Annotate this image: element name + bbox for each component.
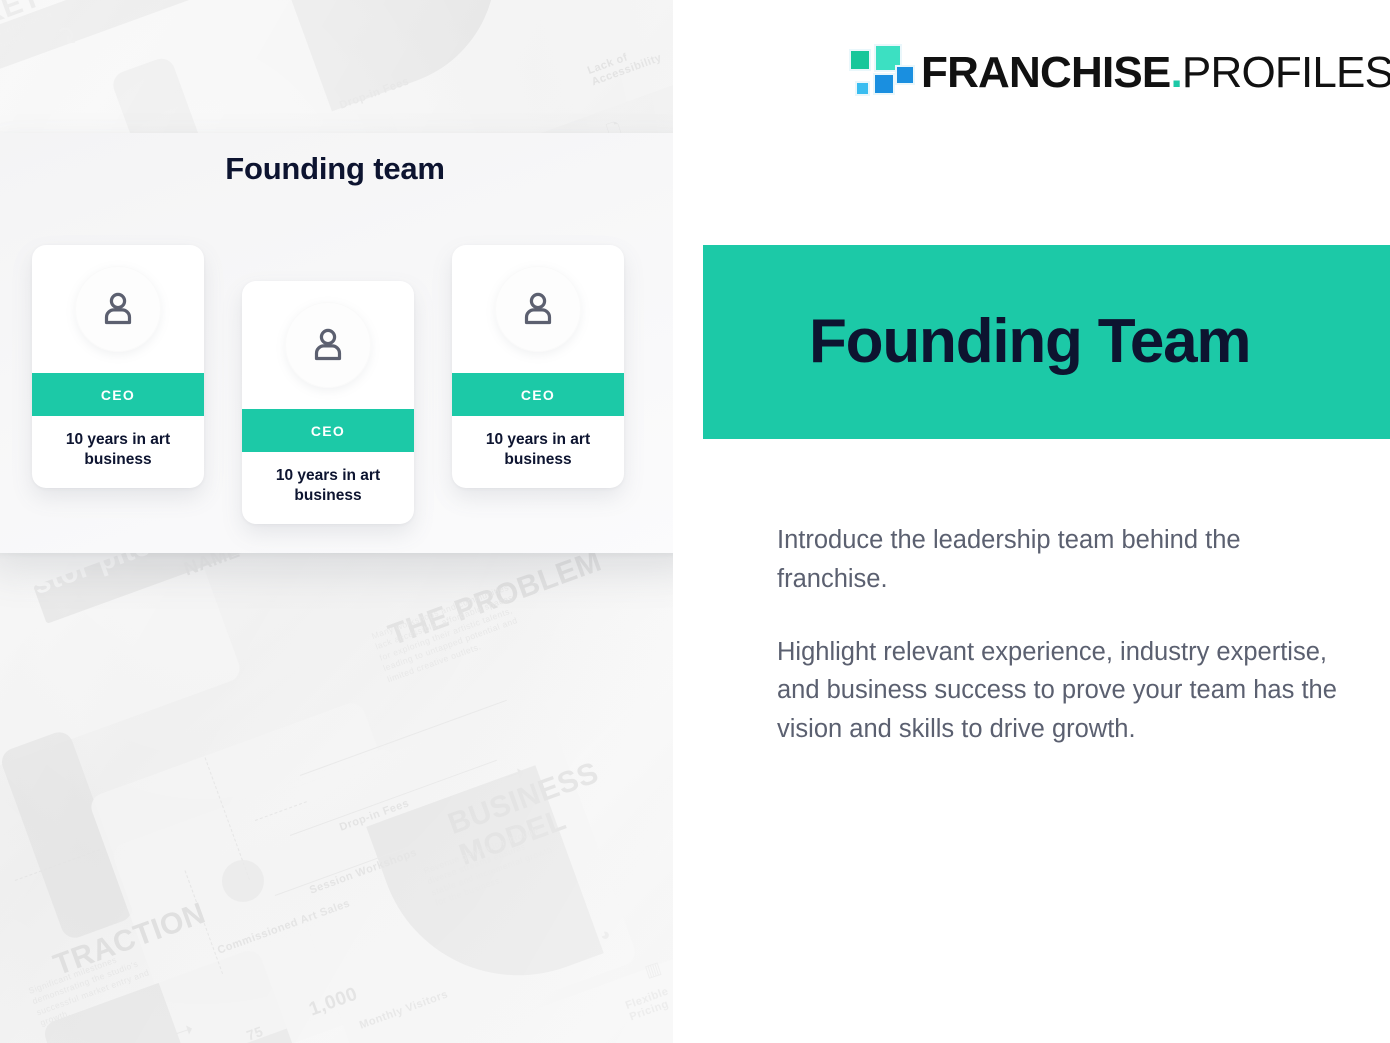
- avatar: [495, 266, 581, 352]
- logo-wordmark: FRANCHISE.PROFILES: [921, 51, 1390, 95]
- person-icon: [518, 289, 558, 329]
- avatar-zone: [32, 245, 204, 373]
- slide-preview-page: ↷ ➝ ➝ ➝ ⧖ 🗋 ▥ ◕ KET estor pitch deck NAM…: [0, 0, 1390, 1043]
- logo-square-blue-right: [895, 65, 915, 85]
- person-icon: [308, 325, 348, 365]
- team-member-card[interactable]: CEO 10 years in art business: [452, 245, 624, 488]
- brand-logo[interactable]: FRANCHISE.PROFILES: [849, 44, 1390, 102]
- title-banner: Founding Team: [703, 245, 1390, 439]
- preview-card-title: Founding team: [0, 151, 706, 187]
- avatar-zone: [452, 245, 624, 373]
- right-content-panel: FRANCHISE.PROFILES Founding Team Introdu…: [673, 0, 1390, 1043]
- avatar: [285, 302, 371, 388]
- logo-dot: .: [1170, 48, 1181, 97]
- logo-square-teal-dark: [849, 49, 871, 71]
- page-title: Founding Team: [809, 311, 1250, 373]
- logo-word-profiles: PROFILES: [1182, 48, 1390, 97]
- description-paragraph-2: Highlight relevant experience, industry …: [777, 633, 1345, 749]
- member-description: 10 years in art business: [242, 452, 414, 524]
- member-role-badge: CEO: [452, 373, 624, 416]
- member-description: 10 years in art business: [32, 416, 204, 488]
- avatar-zone: [242, 281, 414, 409]
- team-member-card[interactable]: CEO 10 years in art business: [242, 281, 414, 524]
- member-description: 10 years in art business: [452, 416, 624, 488]
- avatar: [75, 266, 161, 352]
- member-role-badge: CEO: [242, 409, 414, 452]
- logo-word-franchise: FRANCHISE: [921, 48, 1170, 97]
- description-block: Introduce the leadership team behind the…: [777, 521, 1345, 749]
- team-member-card[interactable]: CEO 10 years in art business: [32, 245, 204, 488]
- person-icon: [98, 289, 138, 329]
- logo-square-blue-light: [855, 81, 870, 96]
- founding-team-preview-card: Founding team CEO 10 years in art busine…: [0, 133, 706, 553]
- bg-coin-circle: [222, 860, 264, 902]
- logo-mark-icon: [849, 44, 907, 102]
- description-paragraph-1: Introduce the leadership team behind the…: [777, 521, 1345, 599]
- member-role-badge: CEO: [32, 373, 204, 416]
- logo-square-blue-mid: [873, 73, 895, 95]
